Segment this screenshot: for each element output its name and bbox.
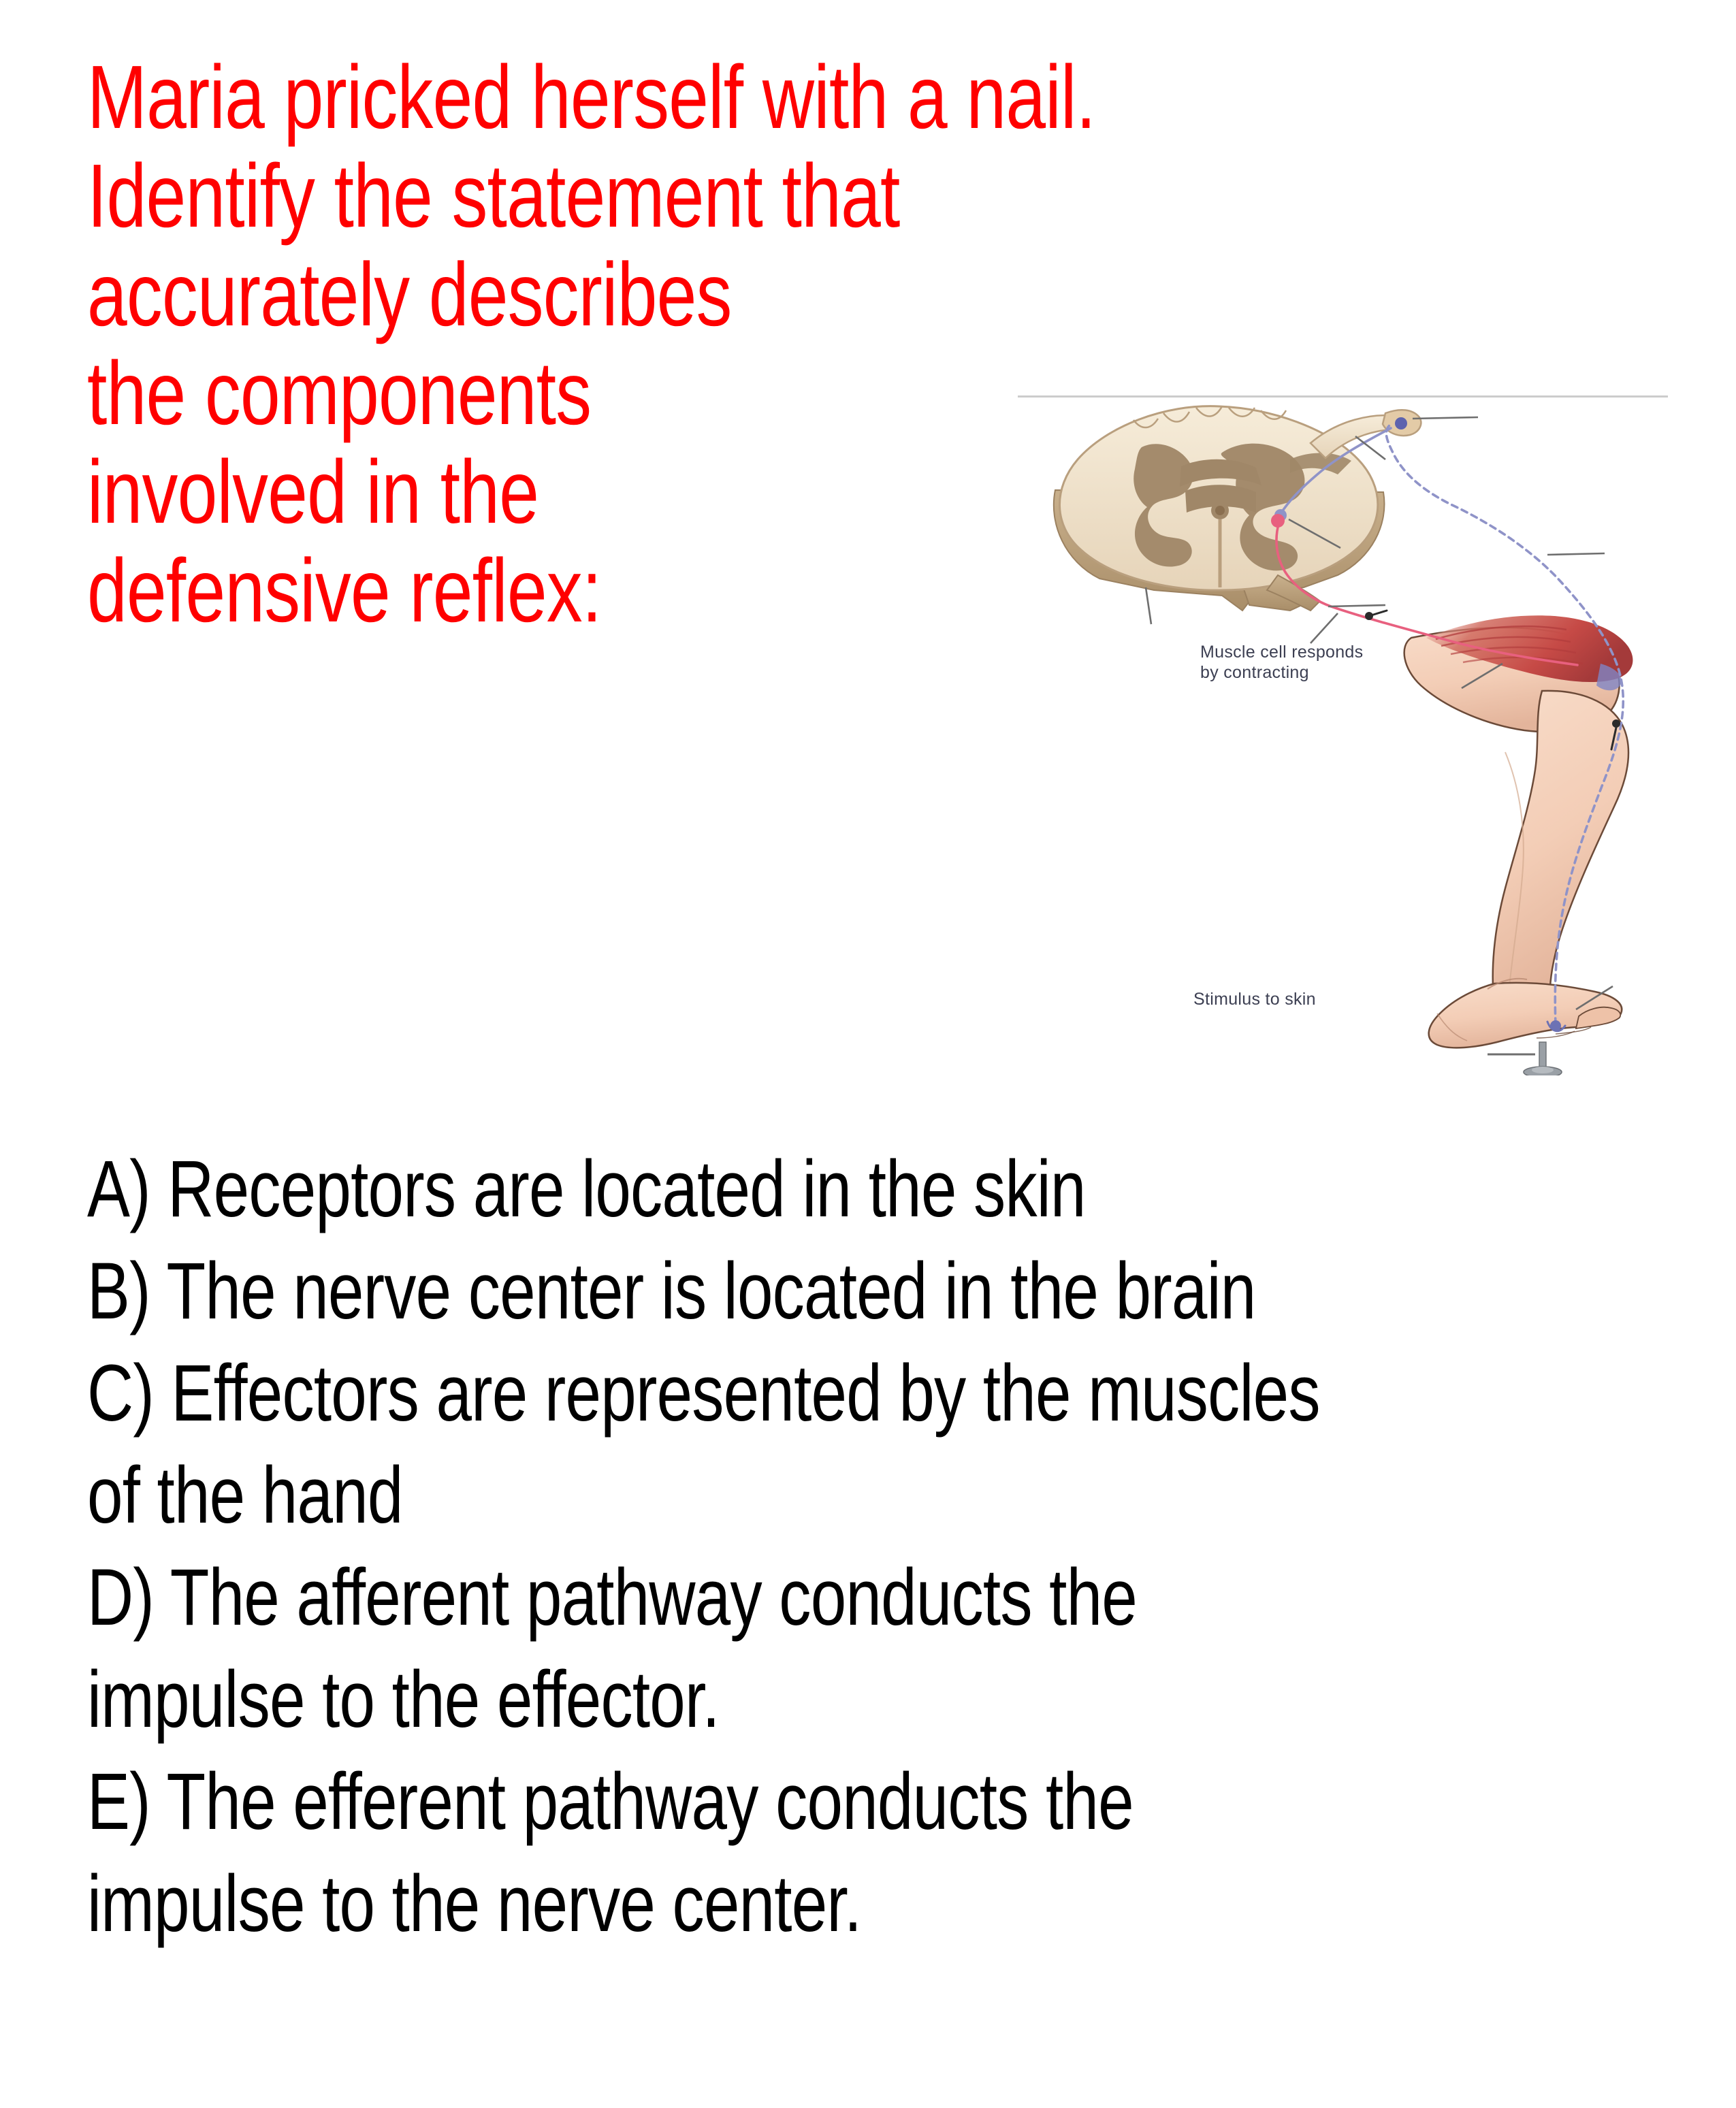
reflex-arc-figure: Muscle cell responds by contracting Stim… (1018, 371, 1668, 1075)
figure-label-stimulus-to-skin: Stimulus to skin (1193, 989, 1316, 1009)
leg-illustration (1404, 628, 1628, 1048)
spinal-cord-cross-section (1054, 406, 1421, 611)
option-b[interactable]: B) The nerve center is located in the br… (87, 1240, 1356, 1342)
option-e[interactable]: E) The efferent pathway conducts the (87, 1751, 1356, 1853)
question-line-6: defensive reflex: (87, 541, 850, 640)
question-text: Maria pricked herself with a nail. Ident… (87, 48, 1040, 640)
question-line-3: accurately describes (87, 245, 850, 344)
nail-icon (1524, 1042, 1562, 1075)
figure-label-muscle-cell: Muscle cell responds by contracting (1200, 642, 1363, 683)
question-line-1: Maria pricked herself with a nail. (87, 48, 850, 146)
reflex-arc-illustration (1018, 371, 1668, 1075)
question-line-4: the components (87, 344, 850, 442)
option-e-continued[interactable]: impulse to the nerve center. (87, 1853, 1356, 1955)
question-line-5: involved in the (87, 442, 850, 541)
option-c[interactable]: C) Effectors are represented by the musc… (87, 1342, 1356, 1444)
answer-options-list: A) Receptors are located in the skin B) … (87, 1138, 1673, 1955)
option-c-continued[interactable]: of the hand (87, 1444, 1356, 1546)
question-line-2: Identify the statement that (87, 146, 850, 245)
option-d[interactable]: D) The afferent pathway conducts the (87, 1546, 1356, 1649)
option-a[interactable]: A) Receptors are located in the skin (87, 1138, 1356, 1240)
option-d-continued[interactable]: impulse to the effector. (87, 1649, 1356, 1751)
